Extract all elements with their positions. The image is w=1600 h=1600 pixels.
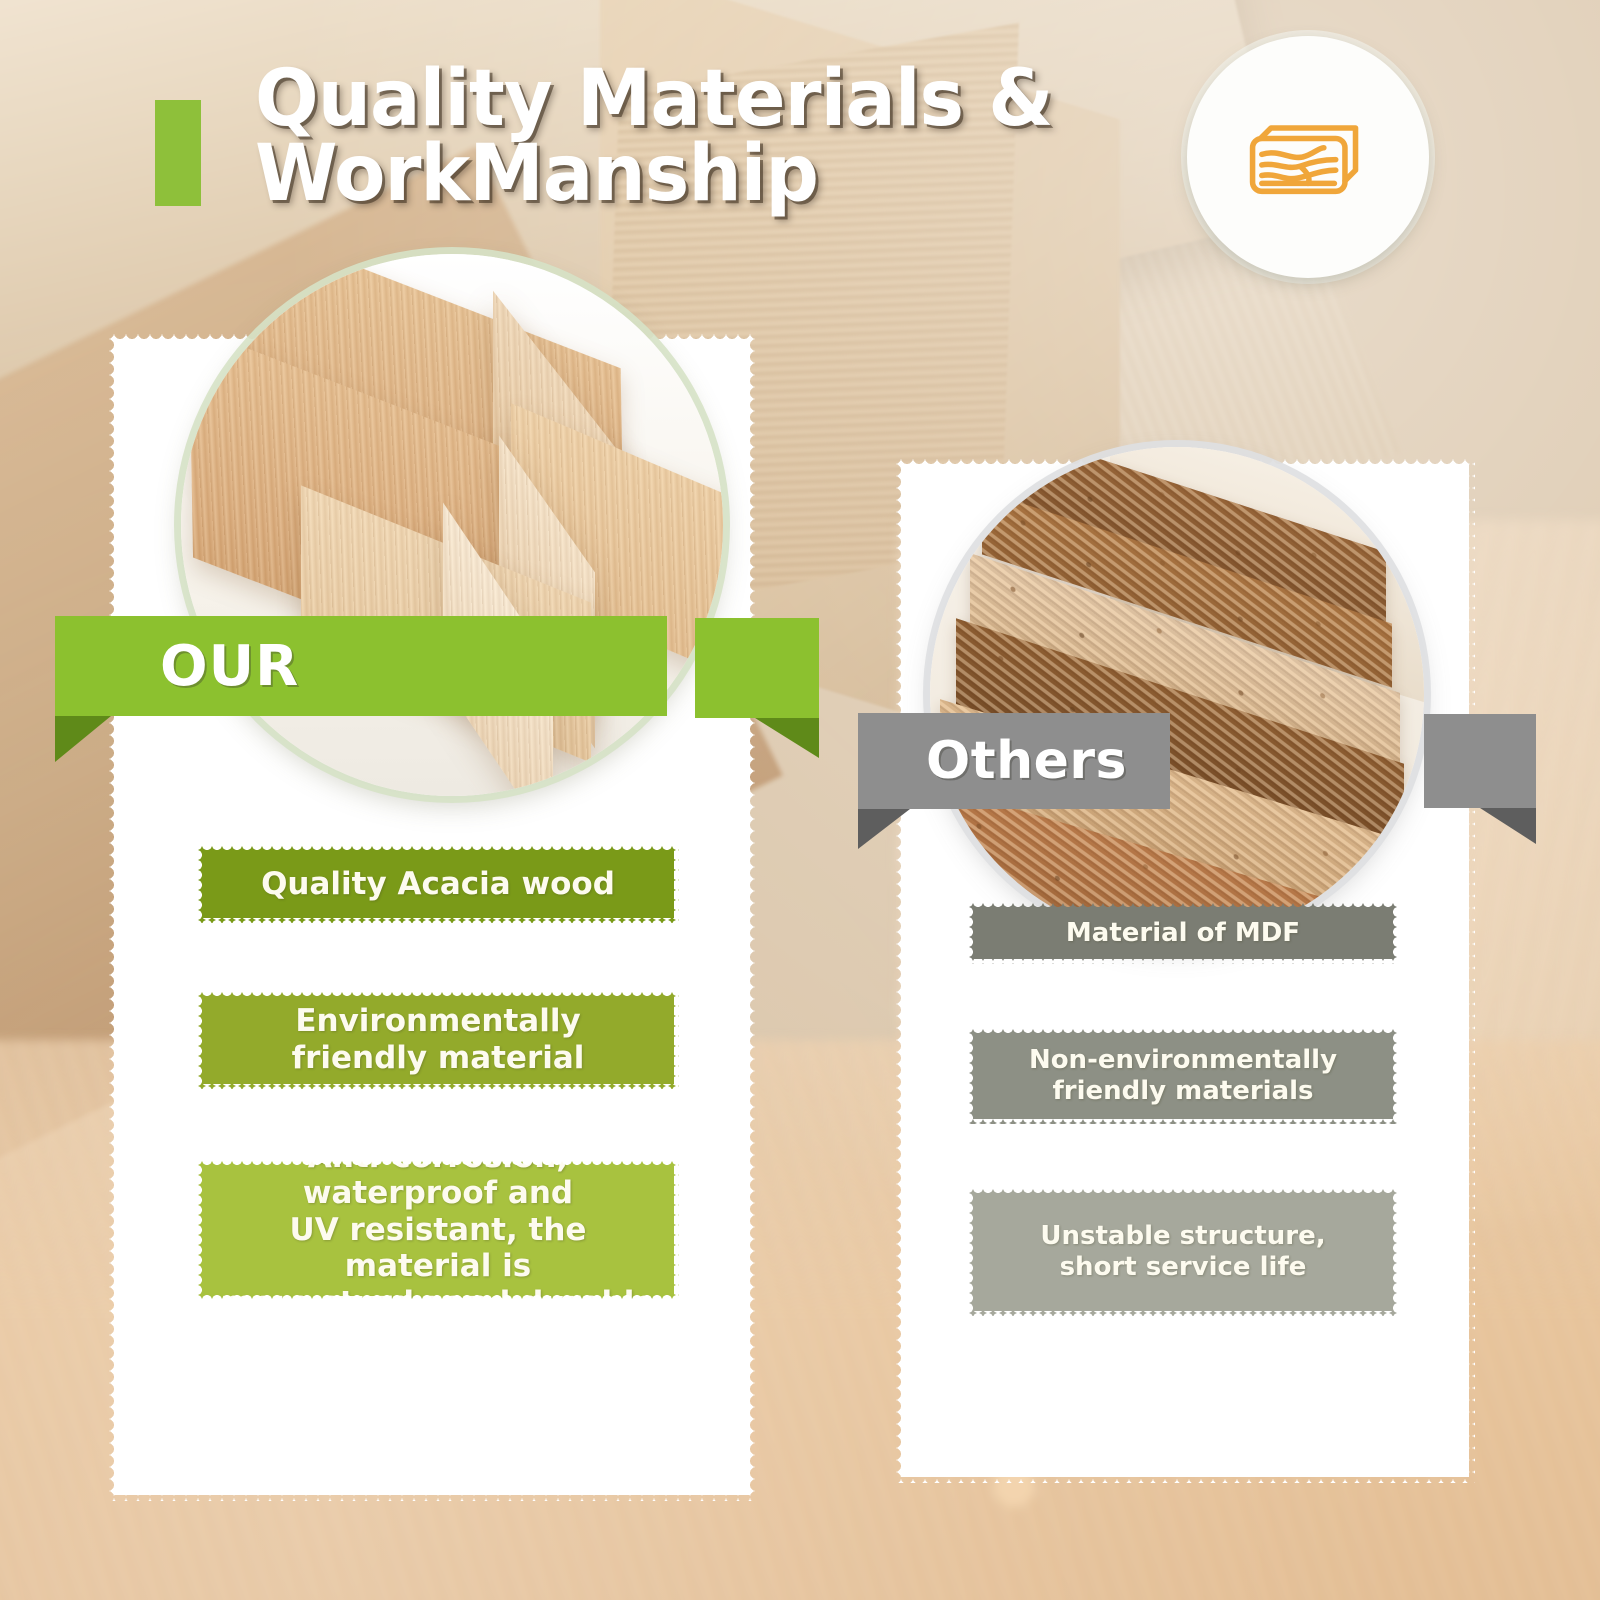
others-banner: Others: [858, 713, 1170, 809]
our-feature-1: Quality Acacia wood: [197, 845, 679, 923]
our-banner-tab: [695, 618, 819, 718]
our-banner-label: OUR: [160, 634, 299, 699]
others-feature-2: Non-environmentally friendly materials: [968, 1028, 1398, 1124]
others-banner-tab: [1424, 714, 1536, 808]
others-feature-1: Material of MDF: [968, 902, 1398, 964]
our-banner-fold: [55, 716, 111, 762]
title-accent-bar: [155, 100, 201, 206]
infographic-root: Quality Materials & WorkManship OUR: [0, 0, 1600, 1600]
others-banner-tab-fold: [1480, 808, 1536, 844]
others-feature-3: Unstable structure, short service life: [968, 1188, 1398, 1316]
our-feature-2: Environmentally friendly material: [197, 991, 679, 1089]
our-banner: OUR: [55, 616, 667, 716]
others-banner-fold: [858, 809, 910, 849]
others-product-photo: [930, 447, 1424, 941]
wood-plank-icon: [1242, 91, 1374, 223]
our-banner-tab-fold: [755, 718, 819, 758]
page-title: Quality Materials & WorkManship: [255, 62, 1119, 212]
wood-plank-badge: [1187, 36, 1429, 278]
our-feature-3: Anti-corrosion, waterproof and UV resist…: [197, 1160, 679, 1300]
others-banner-label: Others: [926, 731, 1127, 791]
